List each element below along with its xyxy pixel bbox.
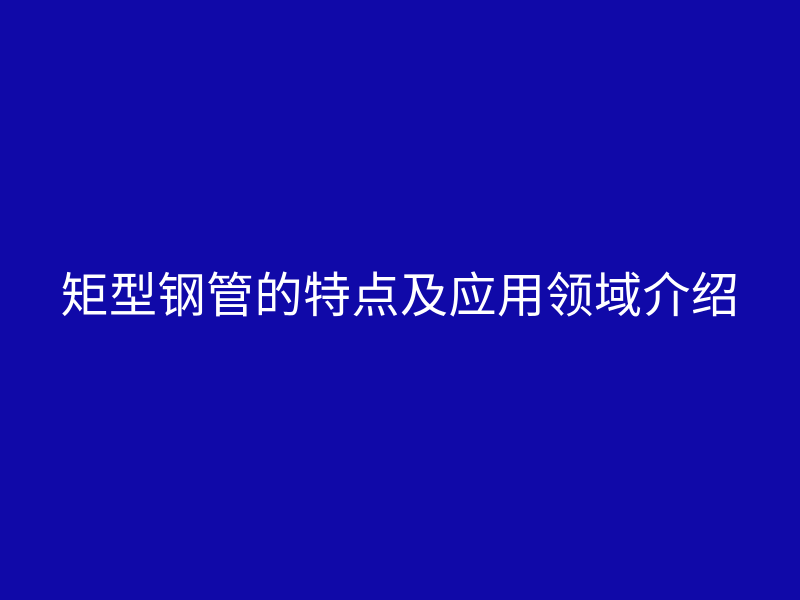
slide-title: 矩型钢管的特点及应用领域介绍 bbox=[60, 272, 739, 320]
title-block: 矩型钢管的特点及应用领域介绍 bbox=[0, 272, 800, 320]
title-slide: 矩型钢管的特点及应用领域介绍 bbox=[0, 0, 800, 600]
